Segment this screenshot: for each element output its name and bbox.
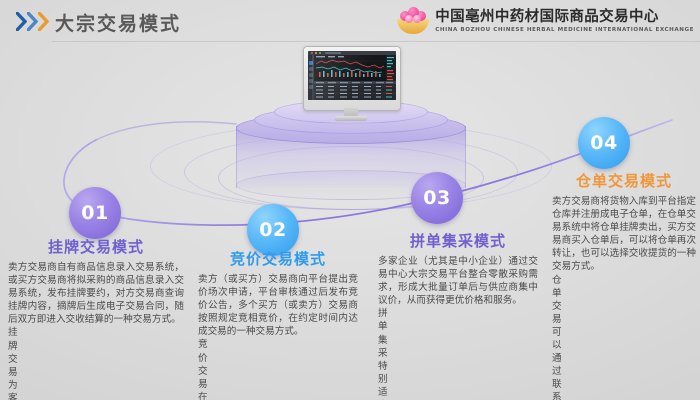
- mode-para2-2: 竞价交易在激烈的竞价过程中，客户有机会以更优的价格达成交易，获取更大的利益。: [198, 338, 208, 348]
- node-circle-03[interactable]: 03: [411, 172, 463, 224]
- mode-para2-1: 挂牌交易为客户提供一个公开透明的交易场所，客户可以自由发布交易信息，与众多潜在交…: [8, 326, 18, 336]
- node-number-04: 04: [590, 132, 617, 154]
- node-circle-01[interactable]: 01: [69, 187, 121, 239]
- mode-para1-1: 卖方交易商自有商品信息录入交易系统，或买方交易商将拟采购的商品信息录入交易系统，…: [8, 261, 184, 326]
- mode-para1-2: 卖方（或买方）交易商向平台提出竞价场次申请，平台审核通过后发布竞价公告，多个买方…: [198, 273, 358, 338]
- node-circle-04[interactable]: 04: [578, 117, 630, 169]
- mode-title-4: 仓单交易模式: [552, 172, 696, 190]
- mode-block-1: 挂牌交易模式 卖方交易商自有商品信息录入交易系统，或买方交易商将拟采购的商品信息…: [8, 238, 184, 336]
- node-number-03: 03: [423, 187, 450, 209]
- mode-para1-3: 多家企业（尤其是中小企业）通过交易中心大宗交易平台整合零散采购需求，形成大批量订…: [378, 255, 538, 307]
- mode-title-3: 拼单集采模式: [378, 232, 538, 250]
- mode-para2-4: 仓单交易可以通过联系流转，有效降低交易成本、提高交易效率，并且在交易过程中形成价…: [552, 274, 562, 284]
- mode-title-1: 挂牌交易模式: [8, 238, 184, 256]
- mode-para1-4: 卖方交易商将货物入库到平台指定仓库并注册成电子仓单，在仓单交易系统中将仓单挂牌卖…: [552, 195, 696, 274]
- node-circle-02[interactable]: 02: [247, 204, 299, 256]
- mode-block-2: 竞价交易模式 卖方（或买方）交易商向平台提出竞价场次申请，平台审核通过后发布竞价…: [198, 250, 358, 348]
- node-number-01: 01: [81, 202, 108, 224]
- mode-block-4: 仓单交易模式 卖方交易商将货物入库到平台指定仓库并注册成电子仓单，在仓单交易系统…: [552, 172, 696, 284]
- mode-title-2: 竞价交易模式: [198, 250, 358, 268]
- slide-canvas: 大宗交易模式 中国亳州中药材国际商品交易中心 CHINA BOZHOU CHIN…: [0, 0, 700, 400]
- mode-para2-3: 拼单集采特别适合采购量较小的用户，通过联合其他有相同需求的用户，共同发起采购，降…: [378, 307, 388, 317]
- mode-block-3: 拼单集采模式 多家企业（尤其是中小企业）通过交易中心大宗交易平台整合零散采购需求…: [378, 232, 538, 317]
- node-number-02: 02: [259, 219, 286, 241]
